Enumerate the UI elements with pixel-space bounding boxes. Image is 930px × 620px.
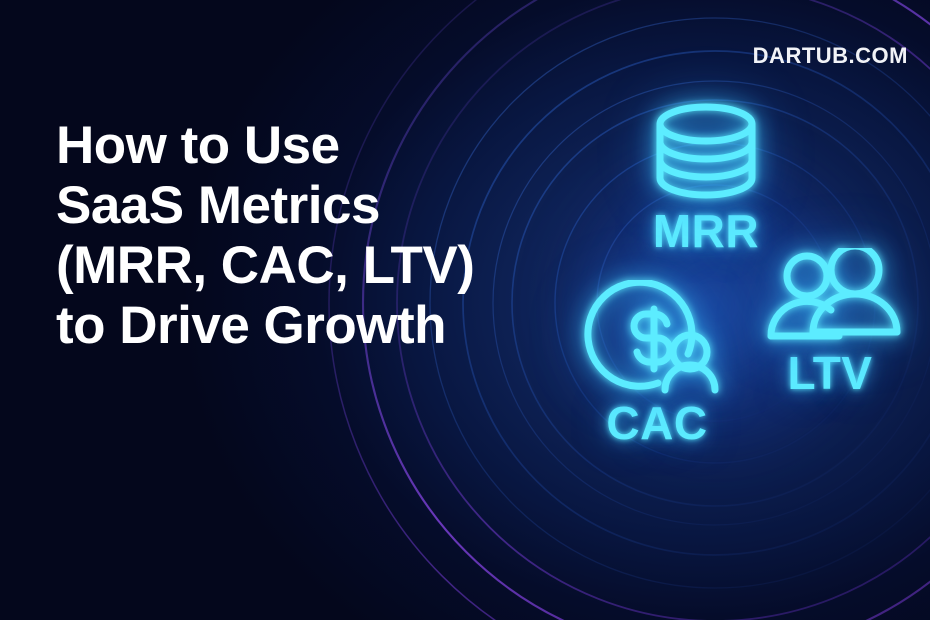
title-line-1: How to Use xyxy=(56,116,526,176)
metric-mrr: MRR xyxy=(596,100,816,254)
dollar-circle-user-icon xyxy=(582,280,732,398)
metric-cac: CAC xyxy=(562,280,752,446)
metric-ltv: LTV xyxy=(740,248,920,396)
page-title: How to Use SaaS Metrics (MRR, CAC, LTV) … xyxy=(56,116,526,356)
title-line-2: SaaS Metrics xyxy=(56,176,526,236)
users-group-icon xyxy=(759,248,901,348)
title-line-3: (MRR, CAC, LTV) xyxy=(56,236,526,296)
metric-cac-label: CAC xyxy=(562,400,752,446)
thumbnail-canvas: DARTUB.COM How to Use SaaS Metrics (MRR,… xyxy=(0,0,930,620)
database-stack-icon xyxy=(647,100,765,204)
metric-ltv-label: LTV xyxy=(740,350,920,396)
brand-logo: DARTUB.COM xyxy=(753,43,908,69)
title-line-4: to Drive Growth xyxy=(56,296,526,356)
